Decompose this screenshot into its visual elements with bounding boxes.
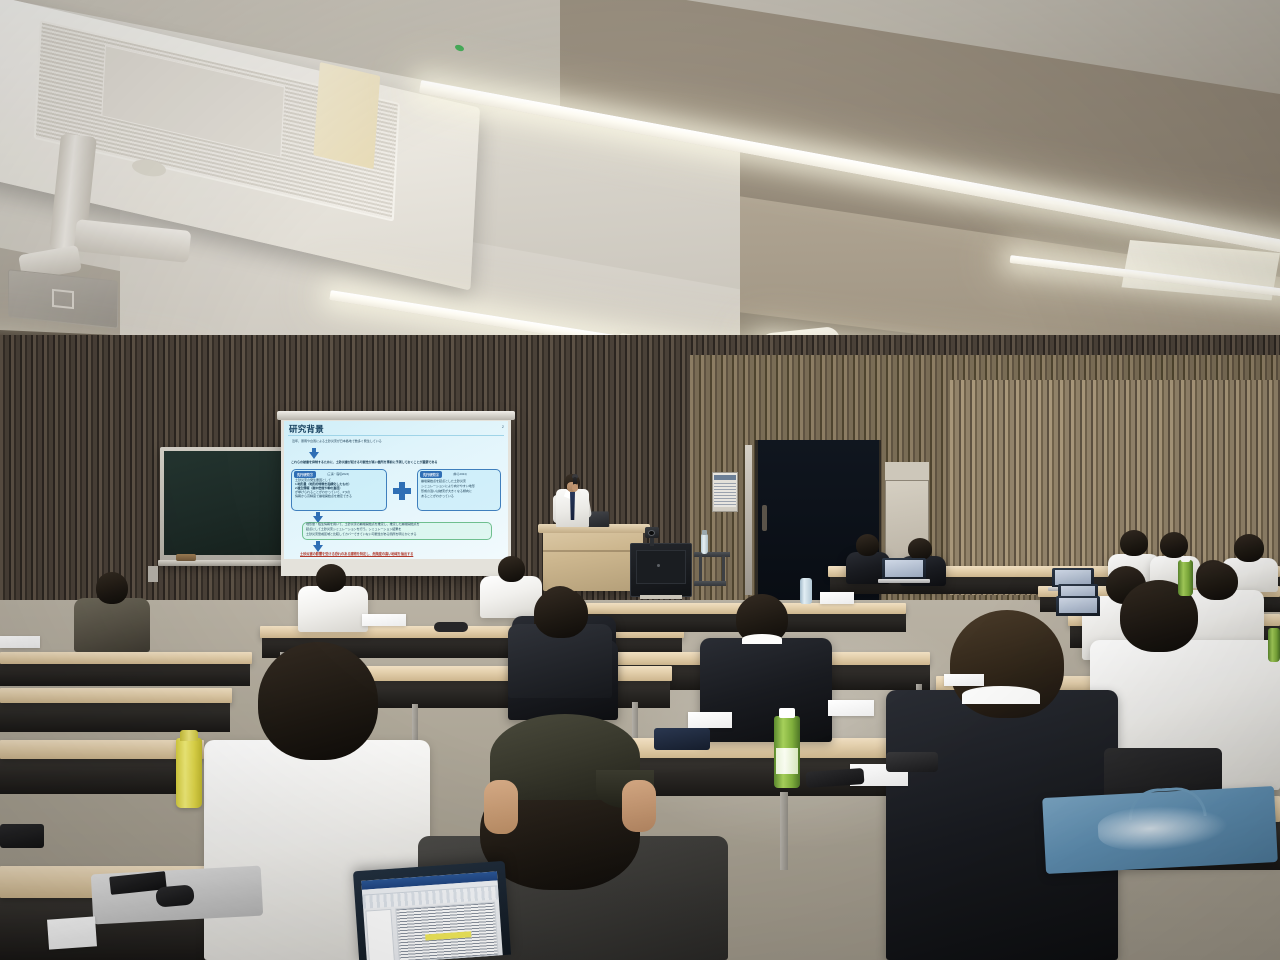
attendee-torso-white-2 <box>480 576 542 618</box>
laptop-screen-2 <box>1055 570 1091 585</box>
projection-screen-roller[interactable] <box>277 411 515 420</box>
laptop-screen-1 <box>885 560 923 577</box>
slide-intro-line: 近年、豪雨や台風による土砂災害が日本各地で数多く発生している <box>292 440 498 444</box>
prior-research-2-badge: 先行研究② <box>420 471 442 478</box>
presentation-slide: 研究背景 2 近年、豪雨や台風による土砂災害が日本各地で数多く発生している これ… <box>284 421 508 559</box>
slide-conclusion: 土砂災害の影響を受ける恐れのある建物を特定し、危険度の高い地域を抽出する <box>300 551 496 556</box>
thermos-cap-icon <box>180 730 198 741</box>
prior-research-2-line-4: あることがわかっている <box>421 495 498 499</box>
plus-icon-horizontal <box>393 488 411 494</box>
handout-paper-8[interactable] <box>944 674 984 686</box>
attendee-collar-dark-2 <box>742 634 782 644</box>
chalk-eraser-icon[interactable] <box>176 554 196 561</box>
eyeglasses-case[interactable] <box>886 752 938 772</box>
lectern <box>543 529 643 591</box>
handout-paper-7[interactable] <box>0 636 40 648</box>
av-rack-indicator-icon <box>657 564 660 567</box>
word-document-body <box>395 902 499 960</box>
attendee-collar-dark-large <box>962 686 1040 704</box>
attendee-hand-right <box>622 780 656 832</box>
attendee-head-olive-suit <box>96 572 128 604</box>
wall-poster-header <box>714 475 736 480</box>
thermos-flask[interactable] <box>176 738 202 808</box>
attendee-head-back-2 <box>908 538 932 560</box>
prior-research-2-citation: (林ら2024) <box>453 472 467 476</box>
desk-rowL <box>0 740 204 759</box>
attendee-head-back-1 <box>856 534 879 556</box>
slide-title: 研究背景 <box>289 423 324 435</box>
prior-research-1-line-5: 情報から高精度で崩壊開始点を推定できる <box>295 495 384 499</box>
lectern-edge <box>543 550 643 552</box>
attendee-head-back-4 <box>1160 532 1188 558</box>
arrow-down-icon-1 <box>309 452 319 459</box>
handout-paper-2[interactable] <box>820 592 854 604</box>
prior-research-1-badge: 先行研究① <box>294 471 316 478</box>
word-navigation-pane <box>365 909 395 960</box>
slide-second-line: これらの被害を抑制するために、土砂災害が起きる可能性が高い箇所を事前に予測してお… <box>291 461 501 465</box>
ventilation-box-label <box>52 289 74 309</box>
bottle-cap-icon-2 <box>1181 556 1190 562</box>
attendee-head-back-3 <box>1120 530 1148 556</box>
laptop-screen-4 <box>1059 598 1097 613</box>
water-bottle-blue[interactable] <box>800 578 812 604</box>
desk-panel-rowL <box>0 756 200 794</box>
door-handle-icon[interactable] <box>762 505 767 531</box>
green-tea-bottle-2[interactable] <box>1178 560 1193 596</box>
handout-paper-5[interactable] <box>688 712 732 728</box>
attendee-hand-left <box>484 780 518 834</box>
wall-poster-text-lines <box>714 483 736 507</box>
handout-paper-6[interactable] <box>362 614 406 626</box>
slide-title-divider <box>288 435 504 436</box>
notebook-dark[interactable] <box>654 728 710 750</box>
av-side-table-leg-left <box>699 556 702 582</box>
handout-paper-1[interactable] <box>47 916 97 949</box>
laptop-base-1 <box>878 579 930 583</box>
eyeglasses-icon[interactable] <box>434 622 468 632</box>
attendee-head-white-2 <box>498 556 525 582</box>
water-bottle-podium[interactable] <box>701 534 708 554</box>
desk-panel-rowJ <box>0 700 230 732</box>
attendee-head-white-1 <box>316 564 346 592</box>
lecture-hall-photo: 研究背景 2 近年、豪雨や台風による土砂災害が日本各地で数多く発生している これ… <box>0 0 1280 960</box>
bottle-cap-icon-1 <box>779 708 795 718</box>
presenter-hand <box>572 484 578 491</box>
attendee-head-back-5 <box>1234 534 1264 562</box>
desk-rowG <box>0 652 252 664</box>
bottle-label-1 <box>776 748 798 774</box>
door-side-panel-top <box>885 462 929 482</box>
attendee-head-white-foreground <box>258 642 378 760</box>
desk-leg-k1 <box>780 792 788 870</box>
chalkboard-surface[interactable] <box>164 451 298 555</box>
door-frame-strip <box>745 445 752 595</box>
av-side-table-lower-shelf <box>694 581 726 586</box>
av-rack-base <box>640 595 682 599</box>
device-left-edge[interactable] <box>0 824 44 848</box>
av-side-table-leg-right <box>722 556 725 582</box>
ac-air-flap <box>313 62 380 169</box>
attendee-torso-white-1 <box>298 586 368 632</box>
green-tea-bottle-3[interactable] <box>1268 628 1280 662</box>
summary-line-3: 土砂災害警戒区域と比較してカバーできていない可能性がある箇所を明らかにする <box>306 533 489 537</box>
desk-rowE <box>544 603 906 614</box>
laptop-screen-foreground <box>361 871 503 960</box>
chalkboard-leg <box>148 566 158 582</box>
attendee-torso-olive-suit <box>74 598 150 652</box>
desk-rowJ <box>0 688 232 703</box>
prior-research-1-citation: (三浦・稲垣2024) <box>327 472 349 476</box>
attendee-head-white-4 <box>1196 562 1238 600</box>
presenter-necktie <box>570 492 575 520</box>
handout-paper-3[interactable] <box>828 700 874 716</box>
av-rack-panel <box>636 550 686 584</box>
slide-page-number: 2 <box>502 424 504 429</box>
camera-lens-icon <box>648 530 655 536</box>
attendee-head-dark-tshirt <box>534 588 588 638</box>
water-bottle-cap-icon <box>702 530 707 535</box>
computer-mouse-icon[interactable] <box>155 884 195 907</box>
